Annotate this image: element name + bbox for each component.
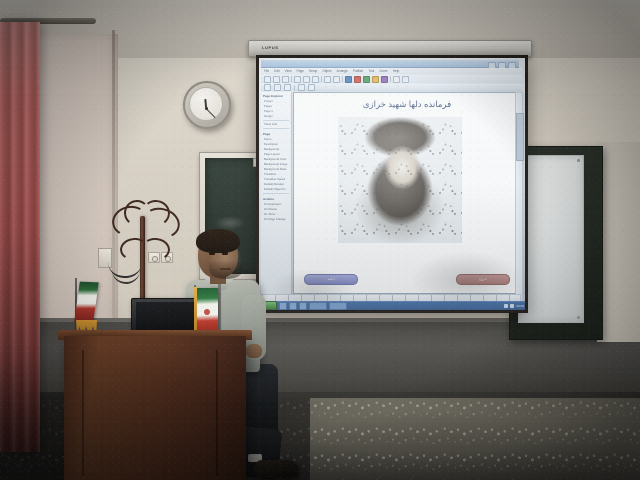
whiteboard-clip — [577, 316, 580, 319]
wall-corner — [112, 30, 115, 336]
action-on-page-change[interactable]: On Page Change — [261, 217, 291, 222]
window-curtain — [0, 22, 40, 452]
slide-button-exit-label: خروج — [457, 275, 509, 284]
slide-button-continue-label: ادامه — [305, 275, 357, 284]
presenter-mouth — [220, 268, 231, 270]
link-icon[interactable] — [381, 76, 388, 83]
panel-divider — [263, 128, 289, 129]
slide-title: فرمانده دلها شهید خرازی — [294, 99, 520, 110]
panel-header-page: Page — [261, 130, 291, 137]
taskbar-button-player[interactable] — [329, 302, 347, 310]
menu-item-setup[interactable]: Setup — [309, 69, 317, 73]
laptop-screen — [136, 302, 196, 331]
podium-groove — [82, 350, 84, 476]
menu-item-view[interactable]: View — [285, 69, 292, 73]
slide-portrait-image — [338, 117, 462, 243]
align-right-icon[interactable] — [284, 84, 291, 91]
bring-front-icon[interactable] — [298, 84, 305, 91]
menu-item-help[interactable]: Help — [393, 69, 400, 73]
panel-header-explorer: Page Explorer — [261, 92, 291, 99]
menu-item-arrange[interactable]: Arrange — [337, 69, 348, 73]
toolbar-separator — [390, 76, 391, 82]
align-center-icon[interactable] — [274, 84, 281, 91]
text-icon[interactable] — [345, 76, 352, 83]
align-left-icon[interactable] — [264, 84, 271, 91]
portrait-grain — [338, 117, 462, 243]
app-toolbar-primary[interactable] — [261, 75, 522, 83]
app-menu-bar[interactable]: File Edit View Page Setup Object Arrange… — [261, 68, 522, 74]
presenter-hair — [196, 229, 240, 253]
classroom-photo: LUPUS File Edit View Page Setup Object A… — [0, 0, 640, 480]
paste-icon[interactable] — [312, 76, 319, 83]
clock-face — [189, 87, 223, 121]
whiteboard-clip — [577, 159, 580, 162]
slide-canvas[interactable]: فرمانده دلها شهید خرازی ادامه خروج — [293, 92, 521, 294]
new-icon[interactable] — [264, 76, 271, 83]
presenter-hand — [246, 344, 262, 358]
toolbar-separator — [294, 85, 295, 91]
toolbar-separator — [291, 76, 292, 82]
undo-icon[interactable] — [324, 76, 331, 83]
panel-divider — [263, 120, 289, 121]
podium-groove — [216, 350, 218, 476]
cut-icon[interactable] — [294, 76, 301, 83]
grid-icon[interactable] — [402, 76, 409, 83]
taskbar-clock: 09:08 — [516, 304, 524, 308]
save-icon[interactable] — [282, 76, 289, 83]
menu-item-tool[interactable]: Tool — [368, 69, 374, 73]
menu-item-page[interactable]: Page — [297, 69, 304, 73]
panel-divider — [263, 193, 289, 194]
app-title-bar[interactable] — [261, 60, 519, 68]
chalk-smudge — [215, 216, 245, 230]
clock-center-pin — [205, 107, 208, 110]
show-grid-checkbox[interactable]: Show Grid — [261, 122, 291, 127]
prop-default-object-fx[interactable]: Default Object Fx — [261, 187, 291, 192]
presenter-shoe — [254, 460, 298, 478]
volume-icon[interactable] — [504, 304, 508, 308]
app-toolbar-secondary[interactable] — [261, 84, 522, 91]
panel-header-actions: Actions — [261, 195, 291, 202]
menu-item-file[interactable]: File — [264, 69, 269, 73]
menu-item-edit[interactable]: Edit — [274, 69, 280, 73]
screen-brand-label: LUPUS — [262, 45, 279, 50]
toolbar-separator — [321, 76, 322, 82]
system-tray[interactable]: 09:08 — [504, 304, 524, 308]
iran-emblem — [204, 309, 210, 315]
open-icon[interactable] — [273, 76, 280, 83]
slide-button-exit[interactable]: خروج — [456, 274, 510, 285]
image-icon[interactable] — [354, 76, 361, 83]
right-wall-strip — [597, 142, 640, 342]
tree-item-design[interactable]: Design — [261, 114, 291, 119]
copy-icon[interactable] — [303, 76, 310, 83]
wall-clock — [183, 81, 231, 129]
toolbar-separator — [342, 76, 343, 82]
redo-icon[interactable] — [333, 76, 340, 83]
send-back-icon[interactable] — [308, 84, 315, 91]
wooden-podium — [64, 336, 246, 480]
shape-icon[interactable] — [363, 76, 370, 83]
zoom-icon[interactable] — [393, 76, 400, 83]
scrollbar-thumb[interactable] — [516, 113, 524, 161]
slide-button-continue[interactable]: ادامه — [304, 274, 358, 285]
taskbar-button-document[interactable] — [309, 302, 327, 310]
menu-item-object[interactable]: Object — [322, 69, 331, 73]
menu-item-cover[interactable]: Cover — [379, 69, 388, 73]
flag-cloth — [74, 282, 99, 323]
menu-item-publish[interactable]: Publish — [353, 69, 363, 73]
canvas-scrollbar[interactable] — [515, 92, 523, 309]
network-icon[interactable] — [510, 304, 514, 308]
color-icon[interactable] — [372, 76, 379, 83]
